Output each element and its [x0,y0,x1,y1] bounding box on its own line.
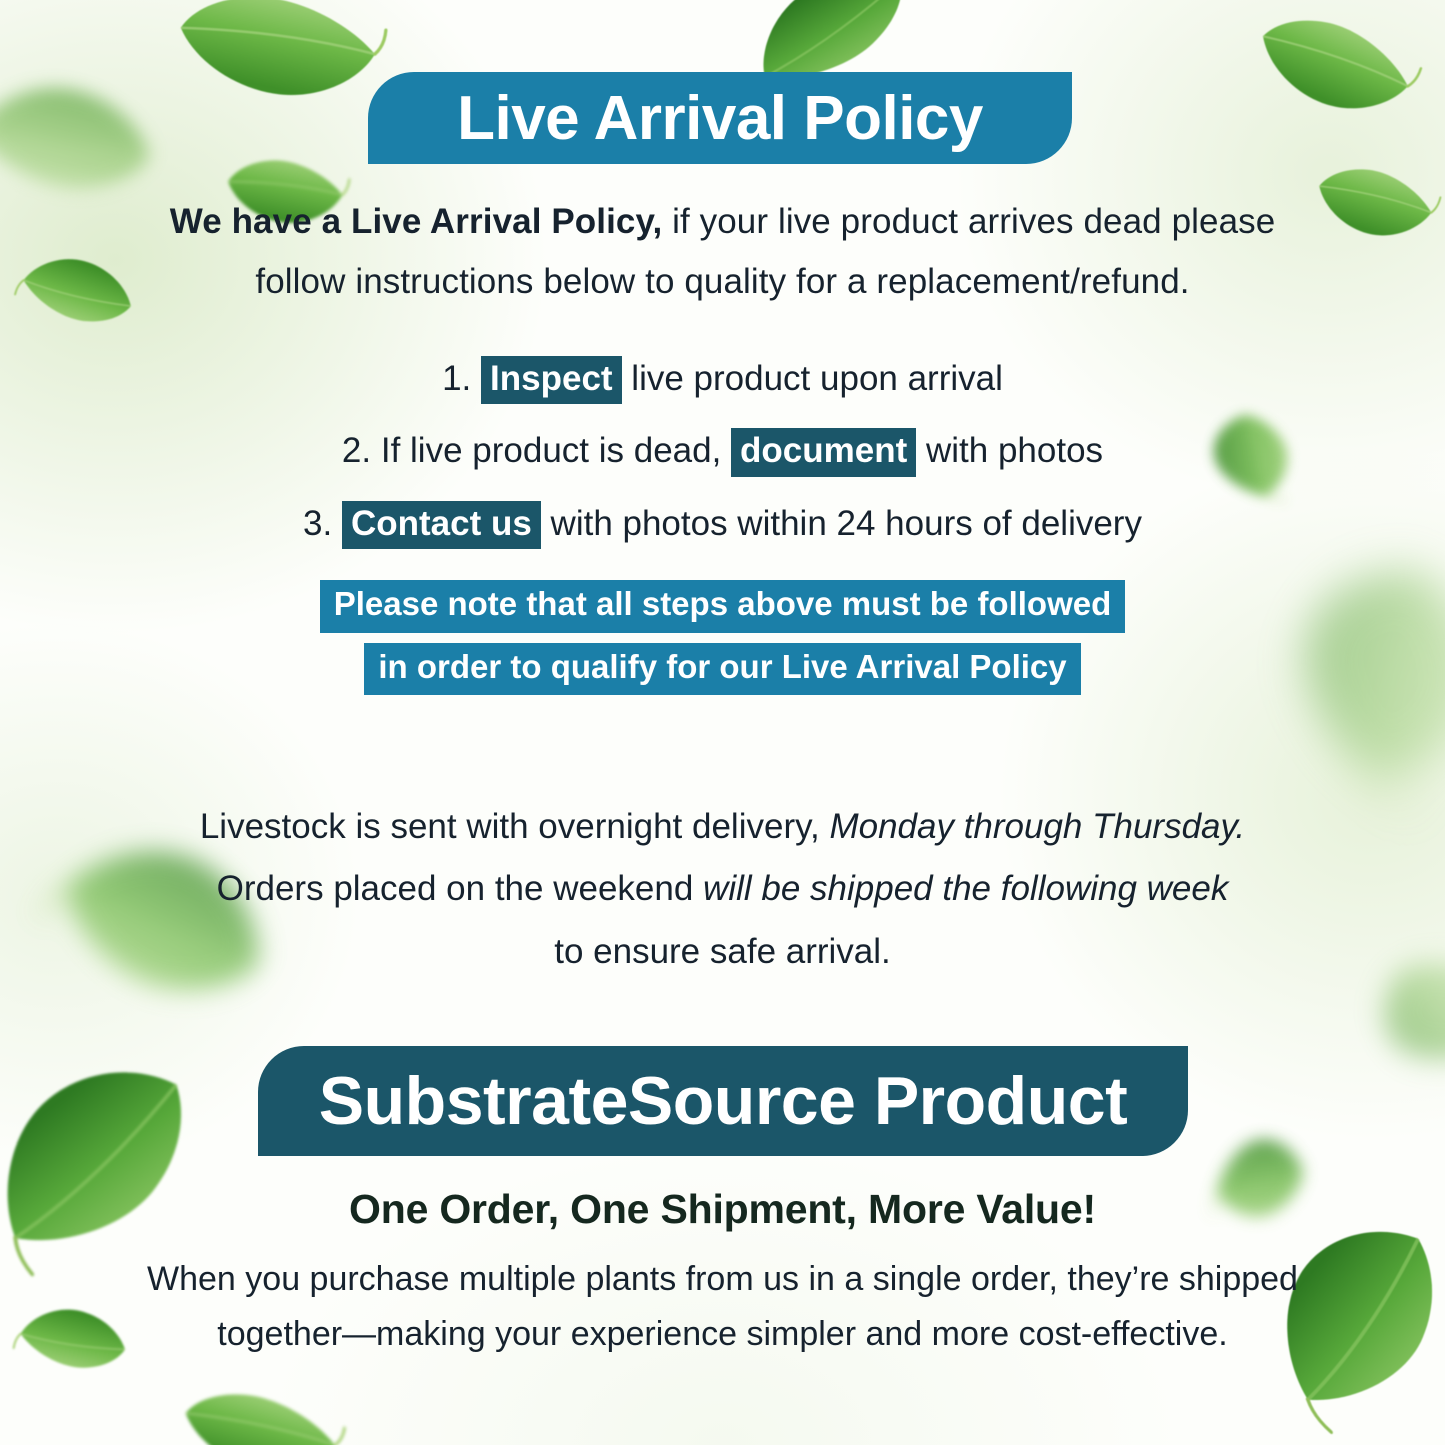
step-pre-text: If live product is dead, [371,431,731,470]
step-post-text: with photos within 24 hours of delivery [541,504,1142,543]
note-line-1: Please note that all steps above must be… [320,580,1126,633]
step-highlight-contact-us: Contact us [342,501,541,549]
product-tagline: One Order, One Shipment, More Value! [170,1186,1275,1233]
note-line-2: in order to qualify for our Live Arrival… [364,643,1080,696]
livestock-shipping-paragraph: Livestock is sent with overnight deliver… [170,796,1275,983]
policy-steps-list: 1. Inspect live product upon arrival 2. … [170,348,1275,565]
note-row: in order to qualify for our Live Arrival… [170,643,1275,696]
shipping-line2-plain: Orders placed on the weekend [217,869,703,908]
shipping-line2-italic: will be shipped the following week [703,869,1228,908]
policy-intro-bold: We have a Live Arrival Policy, [170,202,663,241]
substratesource-product-banner: SubstrateSource Product [258,1046,1188,1156]
step-post-text: with photos [916,431,1103,470]
product-description-paragraph: When you purchase multiple plants from u… [140,1252,1305,1362]
policy-intro-paragraph: We have a Live Arrival Policy, if your l… [140,192,1305,312]
shipping-line3-plain: to ensure safe arrival. [554,932,891,971]
live-arrival-policy-banner: Live Arrival Policy [368,72,1072,164]
step-post-text: live product upon arrival [622,359,1003,398]
step-number: 1. [442,359,471,398]
step-number: 3. [303,504,332,543]
step-highlight-document: document [731,428,916,476]
shipping-line1-italic: Monday through Thursday. [829,807,1245,846]
substratesource-product-banner-title: SubstrateSource Product [319,1062,1127,1140]
page-content: Live Arrival Policy We have a Live Arriv… [0,0,1445,1445]
live-arrival-policy-banner-title: Live Arrival Policy [457,83,983,154]
shipping-line1-plain: Livestock is sent with overnight deliver… [200,807,830,846]
step-number: 2. [342,431,371,470]
list-item: 1. Inspect live product upon arrival [170,348,1275,410]
policy-note-callout: Please note that all steps above must be… [170,580,1275,705]
step-pre-text [332,504,342,543]
note-row: Please note that all steps above must be… [170,580,1275,633]
list-item: 3. Contact us with photos within 24 hour… [170,493,1275,555]
list-item: 2. If live product is dead, document wit… [170,420,1275,482]
step-highlight-inspect: Inspect [481,356,622,404]
